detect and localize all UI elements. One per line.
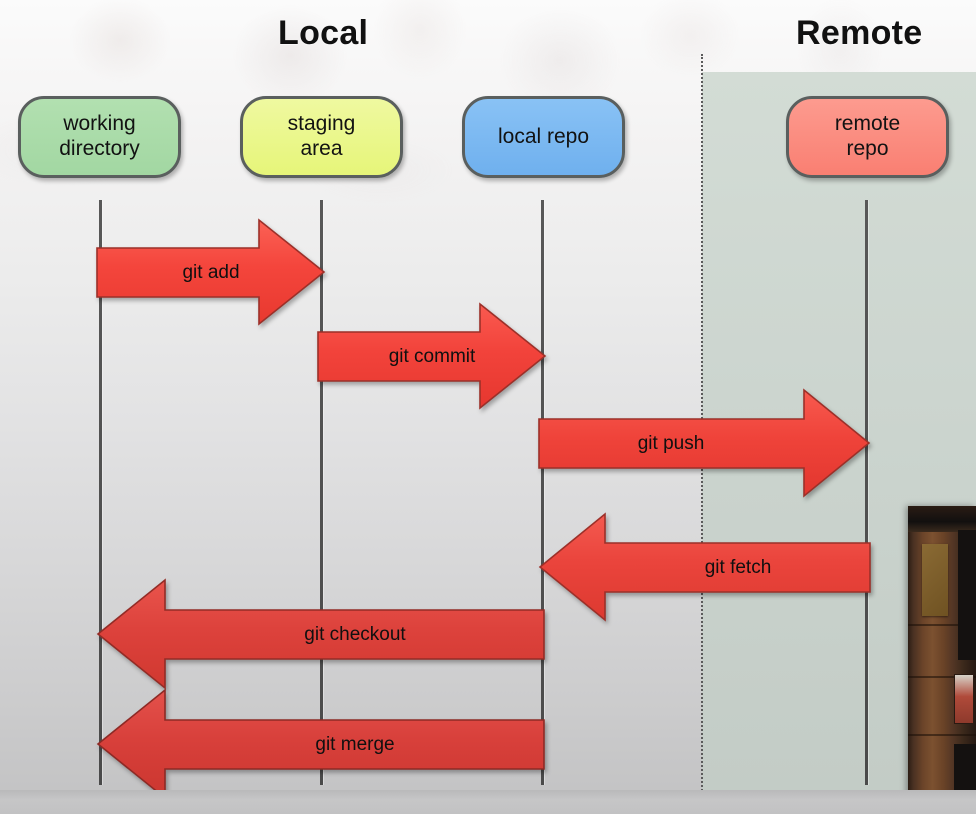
arrow-git-add[interactable]: git add <box>96 218 326 326</box>
camera-picture-frame <box>954 674 974 724</box>
node-staging-area[interactable]: staging area <box>240 96 403 178</box>
camera-shelf <box>908 506 976 532</box>
arrow-git-merge[interactable]: git merge <box>96 688 545 800</box>
node-remote-repo[interactable]: remote repo <box>786 96 949 178</box>
camera-wall-panel <box>922 544 948 616</box>
node-remote-repo-line2: repo <box>835 137 900 162</box>
arrow-git-fetch[interactable]: git fetch <box>538 512 871 622</box>
node-working-directory-line2: directory <box>59 137 140 162</box>
camera-video-frame <box>908 506 976 806</box>
node-working-directory[interactable]: working directory <box>18 96 181 178</box>
section-title-remote: Remote <box>796 14 923 53</box>
node-staging-area-line2: area <box>288 137 356 162</box>
node-remote-repo-line1: remote <box>835 112 900 137</box>
bottom-band <box>0 790 976 814</box>
node-staging-area-line1: staging <box>288 112 356 137</box>
section-title-local: Local <box>278 14 368 53</box>
arrow-git-checkout[interactable]: git checkout <box>96 578 545 690</box>
arrow-git-commit[interactable]: git commit <box>317 302 547 410</box>
node-local-repo[interactable]: local repo <box>462 96 625 178</box>
slide-canvas: Local Remote working directory staging a… <box>0 0 976 814</box>
presenter-camera-overlay <box>908 506 976 806</box>
node-working-directory-line1: working <box>59 112 140 137</box>
arrow-git-push[interactable]: git push <box>538 388 871 498</box>
node-local-repo-line1: local repo <box>498 125 589 150</box>
camera-doorway <box>958 530 976 660</box>
camera-plank <box>908 734 976 736</box>
